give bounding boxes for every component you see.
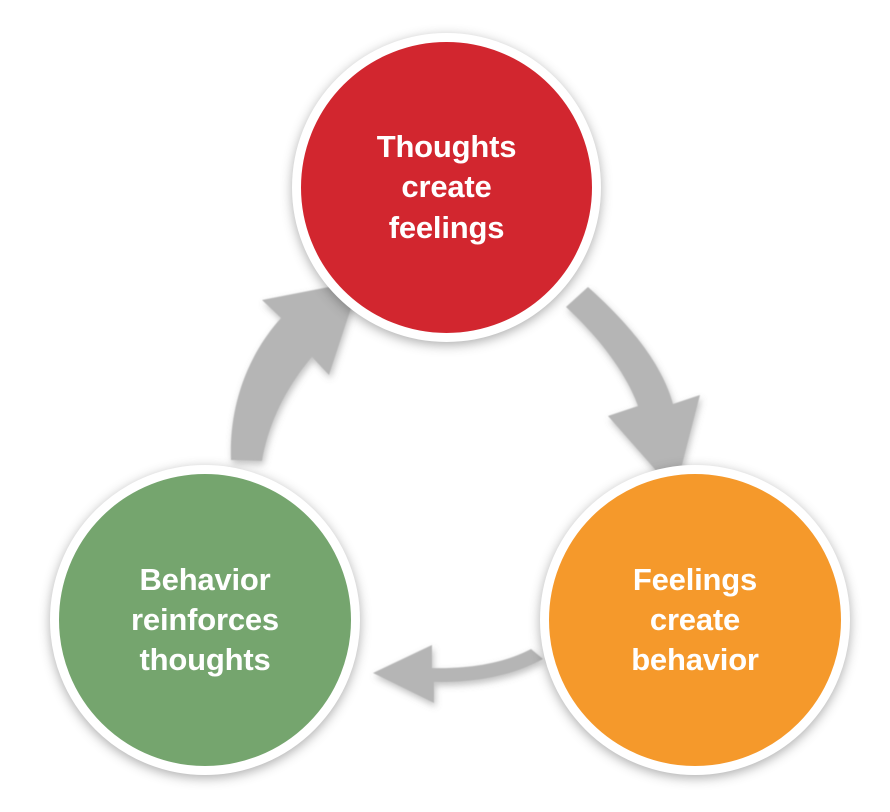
arrow-feelings-to-behavior [373, 645, 543, 703]
arrow-thoughts-to-feelings [566, 287, 700, 492]
node-thoughts-label: Thoughts create feelings [377, 127, 517, 248]
node-behavior-reinforces-thoughts[interactable]: Behavior reinforces thoughts [50, 465, 360, 775]
node-behavior-label: Behavior reinforces thoughts [131, 560, 279, 681]
node-feelings-label: Feelings create behavior [631, 560, 759, 681]
node-feelings-create-behavior[interactable]: Feelings create behavior [540, 465, 850, 775]
node-thoughts-create-feelings[interactable]: Thoughts create feelings [292, 33, 601, 342]
cycle-diagram: Thoughts create feelings Feelings create… [0, 0, 890, 812]
arrow-behavior-to-thoughts [231, 281, 360, 461]
